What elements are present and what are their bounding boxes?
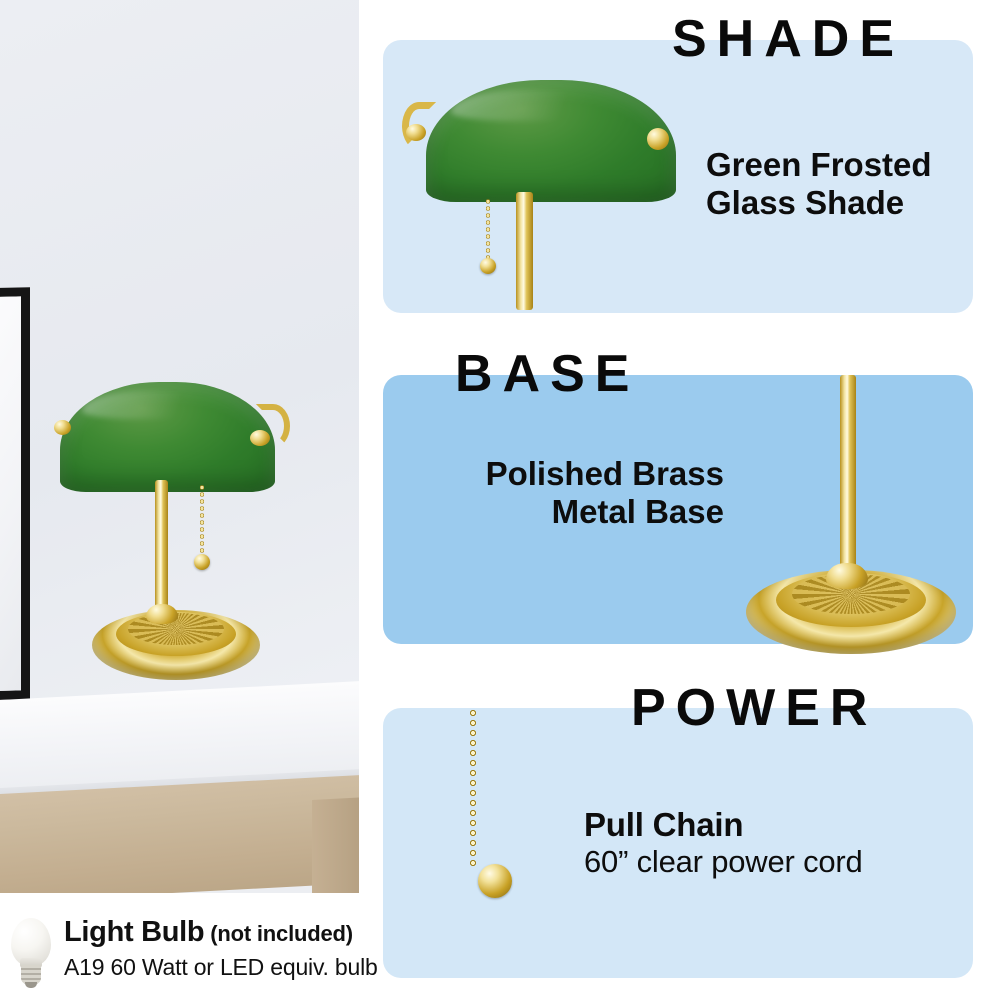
power-chain-illustration xyxy=(470,708,590,908)
section-title-shade: SHADE xyxy=(672,13,904,65)
shade-closeup-illustration xyxy=(400,80,700,310)
light-bulb-icon xyxy=(8,918,54,986)
shade-headline-line-1: Green Frosted xyxy=(706,146,932,184)
lamp-knob-left-icon xyxy=(54,420,71,435)
power-headline: Pull Chain 60” clear power cord xyxy=(584,806,863,879)
section-title-base: BASE xyxy=(455,348,639,400)
hero-product-photo xyxy=(0,0,359,900)
shade-headline: Green Frosted Glass Shade xyxy=(706,146,932,221)
shade-closeup-pull-chain xyxy=(486,198,490,260)
photo-bottom-trim xyxy=(0,893,359,900)
base-headline-line-1: Polished Brass xyxy=(466,455,724,493)
base-closeup-stem xyxy=(840,375,856,595)
base-closeup-cap xyxy=(826,563,868,589)
lamp-shade-glass xyxy=(60,382,275,492)
shade-closeup-highlight xyxy=(451,90,606,122)
power-pull-chain xyxy=(470,708,476,868)
lamp-base-cap xyxy=(146,604,178,624)
lamp-stem xyxy=(155,480,168,616)
power-headline-main: Pull Chain xyxy=(584,806,863,844)
light-bulb-spec: A19 60 Watt or LED equiv. bulb xyxy=(64,954,364,981)
shade-highlight xyxy=(82,391,215,420)
desk-front-panel xyxy=(0,775,359,900)
base-headline: Polished Brass Metal Base xyxy=(466,455,724,530)
base-headline-line-2: Metal Base xyxy=(466,493,724,531)
light-bulb-text-block: Light Bulb (not included) A19 60 Watt or… xyxy=(64,916,364,981)
power-headline-sub: 60” clear power cord xyxy=(584,844,863,879)
pull-chain xyxy=(200,484,204,556)
light-bulb-title: Light Bulb xyxy=(64,916,204,948)
light-bulb-parenthetical: (not included) xyxy=(204,921,353,946)
picture-frame xyxy=(0,287,30,701)
shade-closeup-stem xyxy=(516,192,533,310)
lamp-knob-right-icon xyxy=(250,430,270,446)
shade-headline-line-2: Glass Shade xyxy=(706,184,932,222)
pull-chain-ball-icon xyxy=(194,554,210,570)
photo-right-divider xyxy=(359,0,360,900)
hero-lamp-illustration xyxy=(50,382,310,714)
light-bulb-note: Light Bulb (not included) A19 60 Watt or… xyxy=(8,916,368,992)
section-title-power: POWER xyxy=(631,682,877,734)
light-bulb-title-line: Light Bulb (not included) xyxy=(64,916,364,949)
base-closeup-illustration xyxy=(740,375,970,644)
picture-frame-canvas xyxy=(0,296,21,691)
shade-knob-right-icon xyxy=(647,128,669,150)
power-chain-ball-icon xyxy=(478,864,512,898)
shade-closeup-chain-ball-icon xyxy=(480,258,496,274)
shade-glass-closeup xyxy=(426,80,676,202)
infographic-canvas: Light Bulb (not included) A19 60 Watt or… xyxy=(0,0,1000,1000)
desk-front-side xyxy=(312,798,359,900)
bulb-tip xyxy=(25,982,37,988)
shade-knob-left-icon xyxy=(406,124,426,141)
